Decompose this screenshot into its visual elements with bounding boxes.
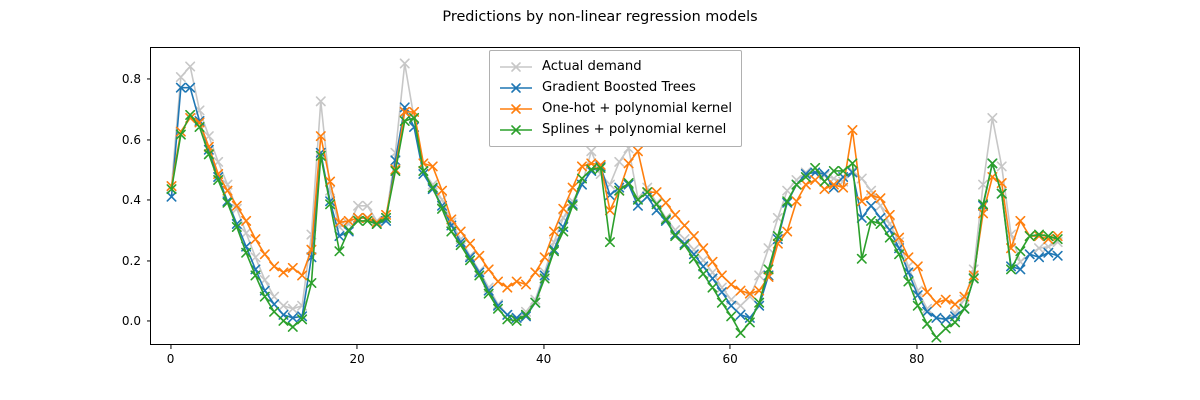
legend-swatch-icon	[499, 100, 533, 118]
x-tick-label: 80	[909, 352, 924, 366]
y-tick-label: 0.6	[122, 133, 141, 147]
legend-item[interactable]: Splines + polynomial kernel	[499, 119, 732, 140]
legend-swatch-icon	[499, 58, 533, 76]
x-tick-label: 60	[723, 352, 738, 366]
x-tick-mark	[170, 345, 171, 349]
y-tick-label: 0.2	[122, 254, 141, 268]
y-tick-label: 0.8	[122, 72, 141, 86]
x-axis-ticks: 020406080	[150, 345, 1080, 385]
x-tick-mark	[730, 345, 731, 349]
legend-swatch-icon	[499, 121, 533, 139]
x-tick-label: 20	[349, 352, 364, 366]
y-tick-label: 0.0	[122, 314, 141, 328]
y-tick-label: 0.4	[122, 193, 141, 207]
legend-label: One-hot + polynomial kernel	[542, 101, 732, 116]
chart-legend: Actual demandGradient Boosted TreesOne-h…	[489, 50, 742, 147]
legend-item[interactable]: Actual demand	[499, 56, 732, 77]
legend-swatch-icon	[499, 79, 533, 97]
legend-label: Actual demand	[542, 59, 642, 74]
x-tick-label: 40	[536, 352, 551, 366]
figure-canvas: Predictions by non-linear regression mod…	[0, 0, 1200, 400]
legend-label: Gradient Boosted Trees	[542, 80, 696, 95]
legend-label: Splines + polynomial kernel	[542, 122, 726, 137]
x-tick-label: 0	[167, 352, 175, 366]
chart-title: Predictions by non-linear regression mod…	[0, 9, 1200, 25]
legend-item[interactable]: One-hot + polynomial kernel	[499, 98, 732, 119]
legend-item[interactable]: Gradient Boosted Trees	[499, 77, 732, 98]
x-tick-mark	[916, 345, 917, 349]
x-tick-mark	[357, 345, 358, 349]
x-tick-mark	[543, 345, 544, 349]
y-axis-ticks: 0.00.20.40.60.8	[0, 47, 150, 345]
